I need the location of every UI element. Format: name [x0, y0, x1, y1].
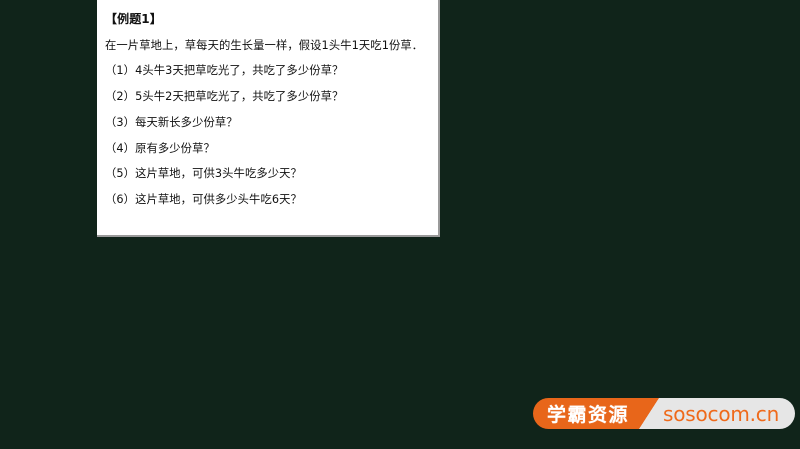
watermark-domain-label: sosocom.cn [659, 398, 795, 429]
watermark-brand-label: 学霸资源 [533, 398, 639, 429]
problem-title: 【例题1】 [105, 7, 432, 33]
problem-card: 【例题1】 在一片草地上，草每天的生长量一样，假设1头牛1天吃1份草． （1）4… [97, 0, 440, 237]
problem-question-1: （1）4头牛3天把草吃光了，共吃了多少份草？ [105, 58, 432, 84]
problem-text-block: 【例题1】 在一片草地上，草每天的生长量一样，假设1头牛1天吃1份草． （1）4… [105, 7, 432, 213]
problem-question-4: （4）原有多少份草？ [105, 136, 432, 162]
problem-question-3: （3）每天新长多少份草？ [105, 110, 432, 136]
problem-question-5: （5）这片草地，可供3头牛吃多少天？ [105, 161, 432, 187]
watermark-wedge-divider [639, 398, 659, 429]
problem-intro: 在一片草地上，草每天的生长量一样，假设1头牛1天吃1份草． [105, 33, 432, 59]
watermark-badge: 学霸资源 sosocom.cn [533, 398, 795, 429]
slide-screen: 【例题1】 在一片草地上，草每天的生长量一样，假设1头牛1天吃1份草． （1）4… [0, 0, 800, 449]
problem-question-6: （6）这片草地，可供多少头牛吃6天？ [105, 187, 432, 213]
problem-question-2: （2）5头牛2天把草吃光了，共吃了多少份草？ [105, 84, 432, 110]
